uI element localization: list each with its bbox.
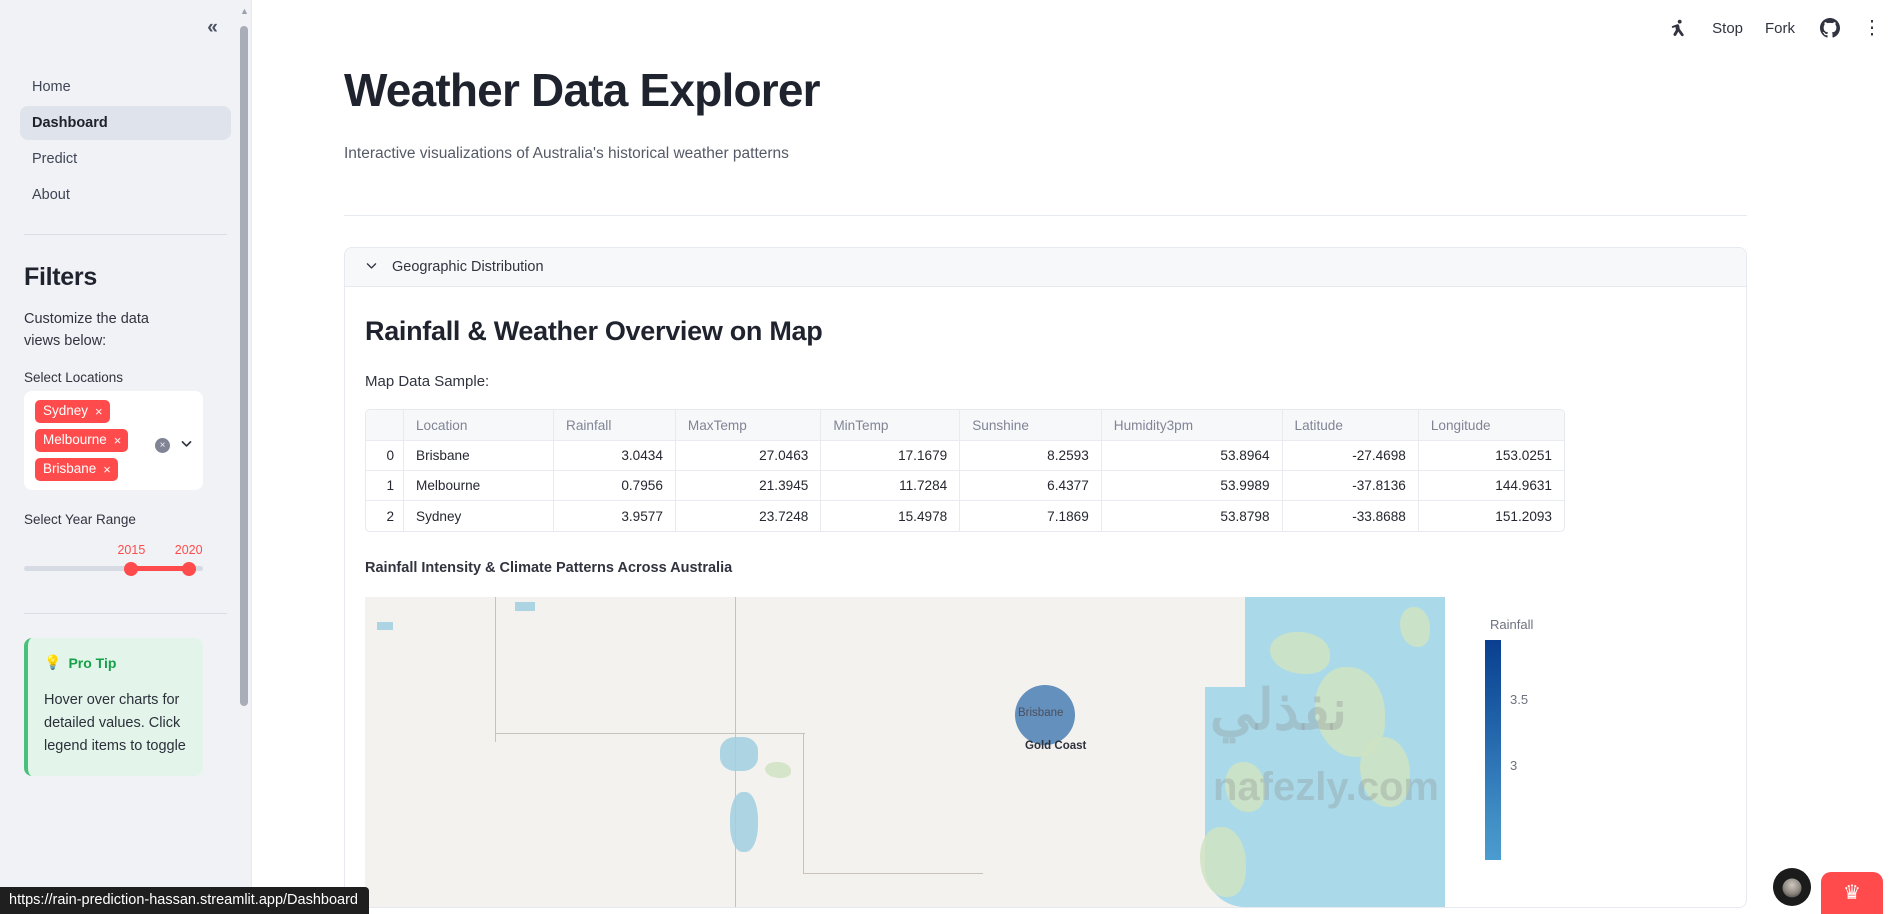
location-chip-label: Melbourne <box>43 431 107 449</box>
cell-latitude: -33.8688 <box>1283 501 1419 531</box>
crown-icon: ♛ <box>1843 883 1861 903</box>
legend-tick-value: 3.5 <box>1510 692 1528 707</box>
map-border <box>495 597 496 742</box>
pro-tip-body: Hover over charts for detailed values. C… <box>44 689 187 758</box>
app-root: « Home Dashboard Predict About Filters C… <box>0 0 1895 914</box>
scroll-up-arrow-icon[interactable]: ▲ <box>240 6 248 16</box>
year-range-slider[interactable]: Select Year Range 2015 2020 <box>24 512 203 571</box>
sidebar-nav: Home Dashboard Predict About <box>20 70 231 212</box>
table-body: 0 Brisbane 3.0434 27.0463 17.1679 8.2593… <box>366 441 1564 531</box>
sidebar-divider-2 <box>24 613 227 614</box>
map-border <box>803 873 983 874</box>
row-index: 0 <box>366 441 404 471</box>
cell-sunshine: 8.2593 <box>960 441 1102 471</box>
crown-chat-button[interactable]: ♛ <box>1821 872 1883 914</box>
clear-all-icon[interactable]: × <box>155 438 170 453</box>
pro-tip-header: 💡 Pro Tip <box>44 654 187 671</box>
cell-latitude: -37.8136 <box>1283 471 1419 501</box>
sidebar-scrollbar[interactable]: ▲ <box>240 6 248 896</box>
map-section: نفذلي nafezly.com Brisbane Gold Coast Ra… <box>365 597 1726 907</box>
cell-maxtemp: 27.0463 <box>676 441 821 471</box>
rainfall-map[interactable]: نفذلي nafezly.com Brisbane Gold Coast <box>365 597 1445 907</box>
year-range-values: 2015 2020 <box>24 543 203 559</box>
pro-tip-box: 💡 Pro Tip Hover over charts for detailed… <box>24 638 203 776</box>
map-chart-caption: Rainfall Intensity & Climate Patterns Ac… <box>365 560 1726 576</box>
col-location: Location <box>404 410 554 441</box>
map-vegetation <box>1200 827 1246 897</box>
collapse-sidebar-icon[interactable]: « <box>196 13 226 43</box>
cell-rainfall: 3.9577 <box>554 501 676 531</box>
legend-ticks: 3.5 3 <box>1501 640 1561 860</box>
accessibility-icon[interactable] <box>1664 11 1690 45</box>
sidebar-collapse-row: « <box>20 0 231 56</box>
expander-header[interactable]: Geographic Distribution <box>345 248 1746 287</box>
city-label-brisbane: Brisbane <box>1018 707 1063 719</box>
map-vegetation <box>765 762 791 778</box>
locations-multiselect[interactable]: Sydney × Melbourne × Brisbane × × <box>24 391 203 490</box>
map-data-sample-label: Map Data Sample: <box>365 373 1726 390</box>
page-title: Weather Data Explorer <box>344 62 1747 118</box>
filters-description: Customize the data views below: <box>24 308 189 352</box>
col-sunshine: Sunshine <box>960 410 1102 441</box>
year-range-label: Select Year Range <box>24 512 203 527</box>
lightbulb-icon: 💡 <box>44 654 61 671</box>
year-min-value: 2015 <box>117 543 145 557</box>
github-icon[interactable] <box>1817 11 1843 45</box>
cell-mintemp: 17.1679 <box>821 441 960 471</box>
cell-longitude: 151.2093 <box>1419 501 1564 531</box>
fork-button[interactable]: Fork <box>1765 11 1795 45</box>
cell-location: Melbourne <box>404 471 554 501</box>
cell-location: Sydney <box>404 501 554 531</box>
chevron-down-icon <box>365 259 378 275</box>
row-index: 2 <box>366 501 404 531</box>
legend-colorbar-wrap: 3.5 3 <box>1485 640 1645 860</box>
cell-maxtemp: 23.7248 <box>676 501 821 531</box>
slider-track[interactable] <box>24 566 203 571</box>
multiselect-controls: × <box>155 437 193 453</box>
stop-button[interactable]: Stop <box>1712 11 1743 45</box>
cell-rainfall: 0.7956 <box>554 471 676 501</box>
table-row[interactable]: 1 Melbourne 0.7956 21.3945 11.7284 6.437… <box>366 471 1564 501</box>
cell-rainfall: 3.0434 <box>554 441 676 471</box>
filters-heading: Filters <box>24 263 231 292</box>
browser-status-url: https://rain-prediction-hassan.streamlit… <box>0 887 369 914</box>
sidebar-item-dashboard[interactable]: Dashboard <box>20 106 231 140</box>
col-latitude: Latitude <box>1283 410 1419 441</box>
slider-handle-min[interactable] <box>124 562 138 576</box>
avatar-face-icon <box>1783 878 1802 897</box>
app-toolbar: Stop Fork ⋮ <box>1664 0 1879 56</box>
sidebar-scrollbar-thumb[interactable] <box>240 26 248 706</box>
sidebar-item-about[interactable]: About <box>20 178 231 212</box>
main-content: Weather Data Explorer Interactive visual… <box>252 0 1895 914</box>
user-avatar[interactable] <box>1773 868 1811 906</box>
col-mintemp: MinTemp <box>821 410 960 441</box>
remove-location-icon[interactable]: × <box>114 434 122 447</box>
remove-location-icon[interactable]: × <box>103 463 111 476</box>
table-header-row: Location Rainfall MaxTemp MinTemp Sunshi… <box>366 410 1564 441</box>
map-water <box>720 737 758 771</box>
geographic-distribution-expander: Geographic Distribution Rainfall & Weath… <box>344 247 1747 908</box>
select-locations-label: Select Locations <box>24 370 231 385</box>
table-header: Location Rainfall MaxTemp MinTemp Sunshi… <box>366 410 1564 441</box>
cell-humidity3pm: 53.9989 <box>1102 471 1283 501</box>
cell-latitude: -27.4698 <box>1283 441 1419 471</box>
map-water <box>730 792 758 852</box>
pro-tip-title: Pro Tip <box>68 655 116 671</box>
cell-sunshine: 7.1869 <box>960 501 1102 531</box>
col-maxtemp: MaxTemp <box>676 410 821 441</box>
col-rainfall: Rainfall <box>554 410 676 441</box>
map-water <box>515 602 535 611</box>
legend-tick-value: 3 <box>1510 758 1517 773</box>
cell-humidity3pm: 53.8798 <box>1102 501 1283 531</box>
map-border <box>495 733 805 734</box>
map-data-table[interactable]: Location Rainfall MaxTemp MinTemp Sunshi… <box>365 409 1565 532</box>
location-chip-brisbane[interactable]: Brisbane × <box>35 458 118 481</box>
location-chip-label: Brisbane <box>43 460 96 478</box>
legend-title: Rainfall <box>1490 617 1645 632</box>
year-max-value: 2020 <box>175 543 203 557</box>
table-row[interactable]: 2 Sydney 3.9577 23.7248 15.4978 7.1869 5… <box>366 501 1564 531</box>
col-longitude: Longitude <box>1419 410 1564 441</box>
expander-body: Rainfall & Weather Overview on Map Map D… <box>345 287 1746 907</box>
sidebar: « Home Dashboard Predict About Filters C… <box>0 0 252 914</box>
sidebar-item-predict[interactable]: Predict <box>20 142 231 176</box>
col-index <box>366 410 404 441</box>
remove-location-icon[interactable]: × <box>95 405 103 418</box>
map-water <box>377 622 393 630</box>
row-index: 1 <box>366 471 404 501</box>
cell-longitude: 153.0251 <box>1419 441 1564 471</box>
slider-handle-max[interactable] <box>182 562 196 576</box>
sidebar-divider <box>24 234 227 235</box>
location-chip-melbourne[interactable]: Melbourne × <box>35 429 128 452</box>
cell-humidity3pm: 53.8964 <box>1102 441 1283 471</box>
slider-selected-range <box>131 566 188 571</box>
cell-maxtemp: 21.3945 <box>676 471 821 501</box>
cell-sunshine: 6.4377 <box>960 471 1102 501</box>
map-legend: Rainfall 3.5 3 <box>1485 597 1645 907</box>
location-chip-label: Sydney <box>43 402 88 420</box>
cell-mintemp: 11.7284 <box>821 471 960 501</box>
chevron-down-icon[interactable] <box>180 437 193 453</box>
map-border <box>803 733 804 873</box>
section-title: Rainfall & Weather Overview on Map <box>365 316 1726 347</box>
table-row[interactable]: 0 Brisbane 3.0434 27.0463 17.1679 8.2593… <box>366 441 1564 471</box>
sidebar-item-home[interactable]: Home <box>20 70 231 104</box>
cell-mintemp: 15.4978 <box>821 501 960 531</box>
page-divider <box>344 215 1747 216</box>
legend-colorbar <box>1485 640 1501 860</box>
page-subtitle: Interactive visualizations of Australia'… <box>344 145 1747 163</box>
col-humidity3pm: Humidity3pm <box>1102 410 1283 441</box>
location-chip-sydney[interactable]: Sydney × <box>35 400 110 423</box>
city-label-gold-coast: Gold Coast <box>1025 740 1086 752</box>
expander-label: Geographic Distribution <box>392 259 544 275</box>
map-border <box>735 597 736 735</box>
cell-longitude: 144.9631 <box>1419 471 1564 501</box>
kebab-menu-icon[interactable]: ⋮ <box>1865 11 1879 45</box>
cell-location: Brisbane <box>404 441 554 471</box>
